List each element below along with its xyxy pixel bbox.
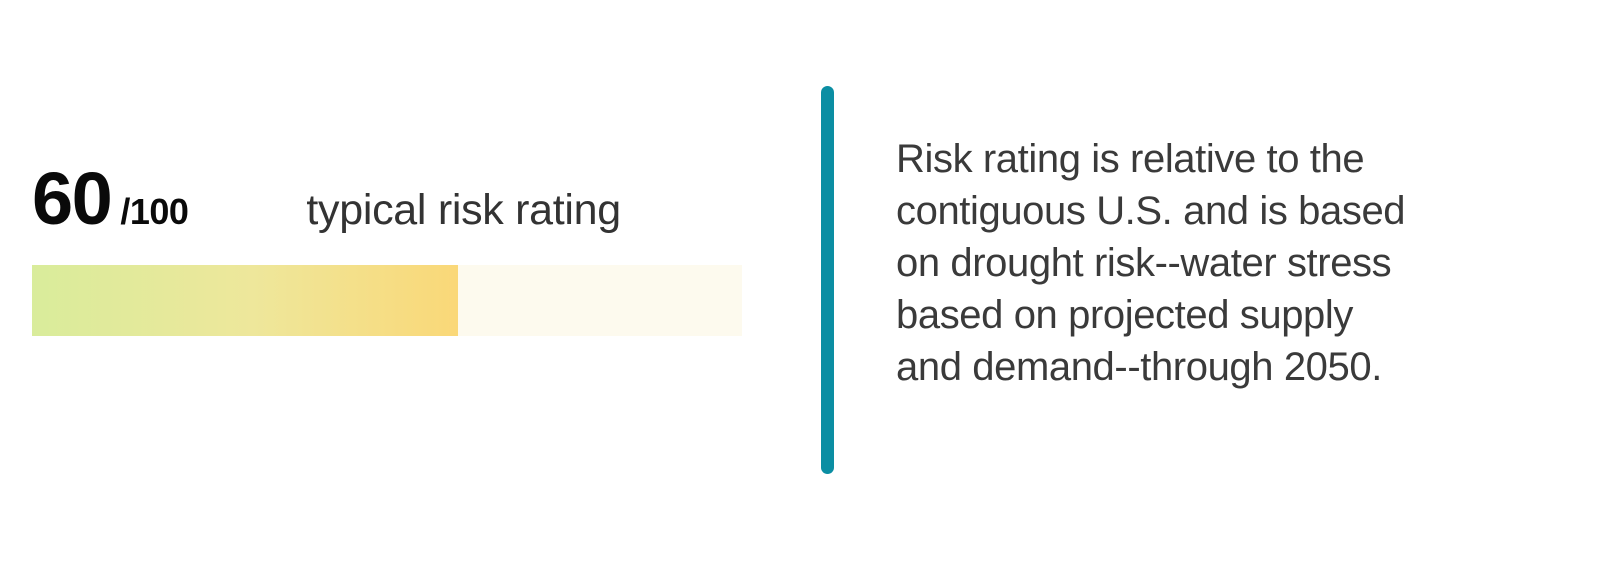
accent-rule [821, 86, 834, 474]
risk-score-value: 60 [32, 162, 111, 236]
risk-rating-panel: 60 /100 typical risk rating Risk rating … [0, 0, 1599, 571]
risk-rating-note-text: Risk rating is relative to the contiguou… [896, 133, 1456, 393]
risk-gauge-track [32, 265, 742, 336]
risk-score-denominator: /100 [120, 194, 188, 230]
score-block: 60 /100 typical risk rating [32, 162, 744, 258]
risk-gauge-fill [32, 265, 458, 336]
score-row: 60 /100 typical risk rating [32, 162, 744, 258]
risk-score-caption: typical risk rating [306, 189, 621, 232]
